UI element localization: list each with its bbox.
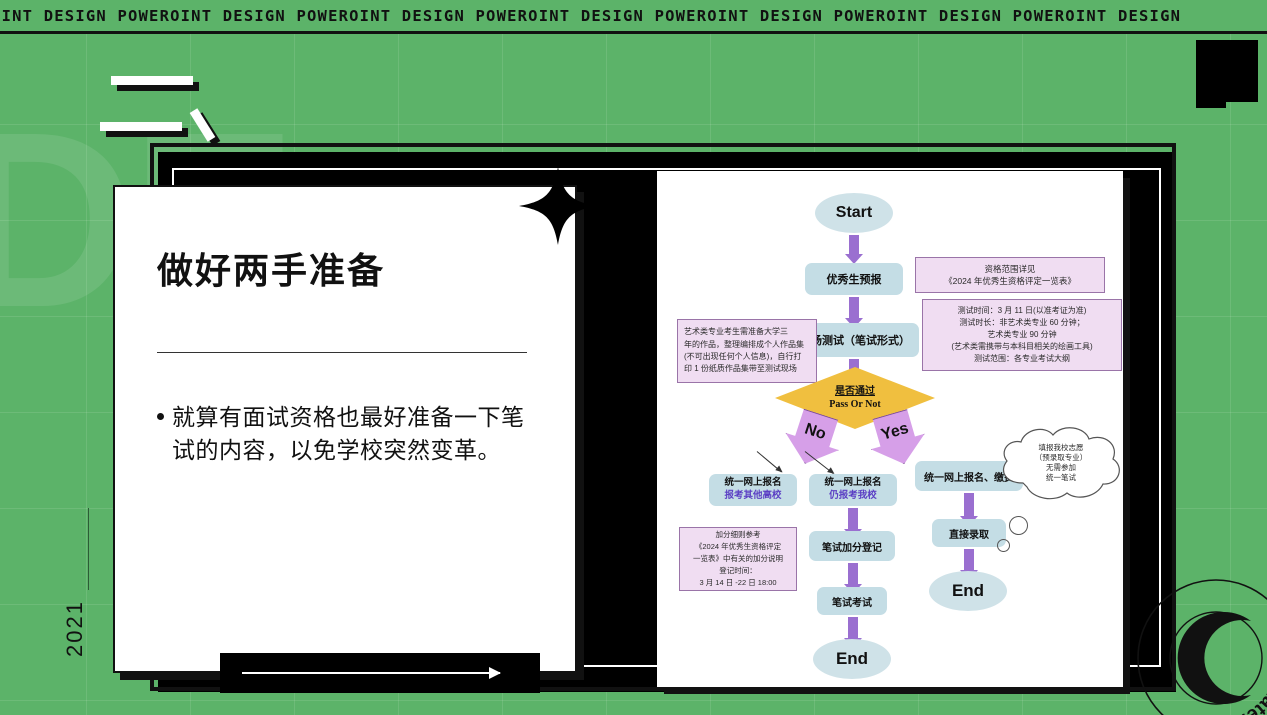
- flow-node-end-left: End: [813, 639, 891, 679]
- flow-node-start: Start: [815, 193, 893, 233]
- year-label: 2021: [62, 600, 88, 657]
- list-item: 就算有面试资格也最好准备一下笔试的内容，以免学校突然变革。: [157, 402, 547, 469]
- top-marquee-band: EROINT DESIGN POWEROINT DESIGN POWEROINT…: [0, 0, 1267, 34]
- skateboard-badge: street skateboard: [1131, 573, 1267, 715]
- flow-node-other-school: 统一网上报名 报考其他高校: [709, 474, 797, 506]
- slide-canvas: DE EROINT DESIGN POWEROINT DESIGN POWERO…: [0, 0, 1267, 715]
- note-test-details: 测试时间：3 月 11 日(以准考证为准) 测试时长：非艺术类专业 60 分钟；…: [922, 299, 1122, 371]
- arrow-ourschool-to-bonus-icon: [848, 508, 858, 530]
- arrow-bar: [220, 653, 540, 693]
- arrow-exam-to-end-icon: [848, 617, 858, 639]
- title-divider: [157, 352, 527, 353]
- thought-bubble-small: [997, 539, 1010, 552]
- flow-node-end-right: End: [929, 571, 1007, 611]
- note-bonus-rules: 加分细则参考 《2024 年优秀生资格评定 一览表》中有关的加分说明 登记时间：…: [679, 527, 797, 591]
- bullet-text: 就算有面试资格也最好准备一下笔试的内容，以免学校突然变革。: [172, 402, 547, 469]
- marquee-text: EROINT DESIGN POWEROINT DESIGN POWEROINT…: [0, 7, 1181, 25]
- card-sparkle-icon: [519, 167, 597, 250]
- bullet-dot-icon: [157, 413, 164, 420]
- sparkle-star-small-icon: [1196, 78, 1226, 108]
- arrow-start-to-prereg-icon: [849, 235, 859, 255]
- flowchart-canvas: Start 优秀生预报 资格范围详见 《2024 年优秀生资格评定一览表》 现场…: [657, 171, 1123, 687]
- flow-node-pre-register: 优秀生预报: [805, 263, 903, 295]
- year-tick-line: [88, 508, 89, 590]
- note-qualification: 资格范围详见 《2024 年优秀生资格评定一览表》: [915, 257, 1105, 293]
- page-title: 做好两手准备: [157, 242, 385, 294]
- thought-cloud: 填报我校志愿 （预录取专业） 无需参加 统一笔试: [993, 421, 1123, 513]
- arrow-signup-to-admit-icon: [964, 493, 974, 517]
- flow-node-bonus-register: 笔试加分登记: [809, 531, 895, 561]
- flowchart-page: Start 优秀生预报 资格范围详见 《2024 年优秀生资格评定一览表》 现场…: [657, 171, 1123, 687]
- flow-node-our-school: 统一网上报名 仍报考我校: [809, 474, 897, 506]
- flow-node-written-exam: 笔试考试: [817, 587, 887, 615]
- flow-node-direct-admit: 直接录取: [932, 519, 1006, 547]
- arrow-admit-to-end-icon: [964, 549, 974, 571]
- thought-bubble-large: [1009, 516, 1028, 535]
- arrow-right-icon: [242, 672, 500, 674]
- arrow-bonus-to-exam-icon: [848, 563, 858, 585]
- content-card: 做好两手准备 就算有面试资格也最好准备一下笔试的内容，以免学校突然变革。: [113, 185, 577, 673]
- note-art-portfolio: 艺术类专业考生需准备大学三 年的作品，整理编排成个人作品集 (不可出现任何个人信…: [677, 319, 817, 383]
- arrow-prereg-to-onsite-icon: [849, 297, 859, 319]
